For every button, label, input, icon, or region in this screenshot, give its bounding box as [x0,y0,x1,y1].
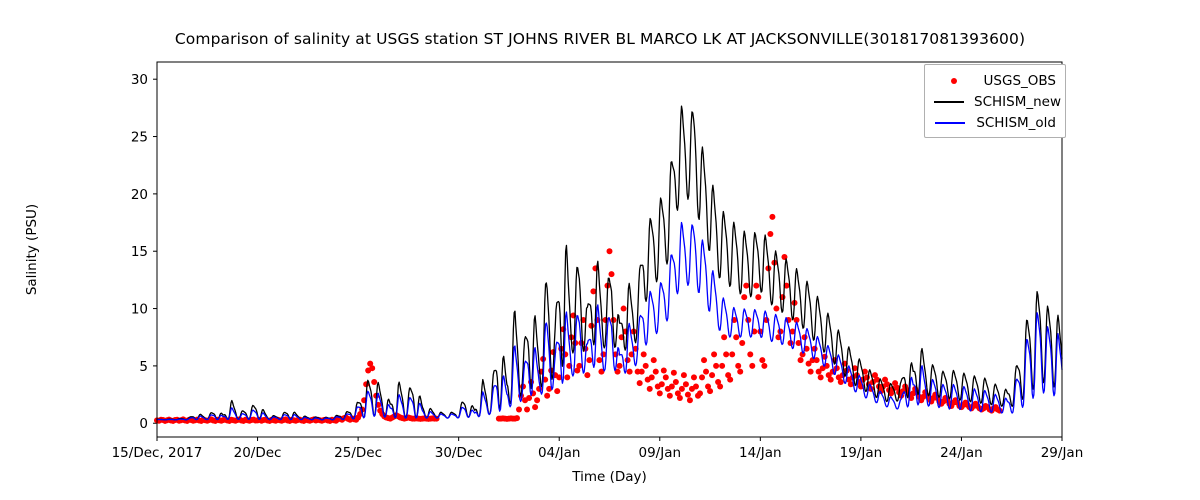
chart-legend: USGS_OBS SCHISM_new SCHISM_old [924,64,1066,138]
data-point [564,374,570,380]
x-tick-label: 15/Dec, 2017 [112,445,203,461]
data-point [669,384,675,390]
data-point [717,384,723,390]
data-point [721,334,727,340]
data-point [769,214,775,220]
y-axis-label: Salinity (PSU) [24,204,40,295]
data-point [707,388,713,394]
data-point [653,369,659,375]
data-point [683,381,689,387]
legend-marker-line-icon [934,101,964,103]
data-point [733,334,739,340]
data-point [667,393,673,399]
data-point [657,390,663,396]
data-point [679,386,685,392]
data-point [691,374,697,380]
data-point [677,395,683,401]
data-point [651,357,657,363]
x-tick-label: 14/Jan [739,445,782,461]
data-point [659,381,665,387]
data-point [647,386,653,392]
x-tick-label: 19/Jan [840,445,883,461]
data-point [621,306,627,312]
data-point [761,363,767,369]
y-tick-label: 10 [131,302,148,318]
data-point [609,271,615,277]
data-point [729,351,735,357]
x-tick-label: 24/Jan [940,445,983,461]
data-point [514,415,520,421]
data-point [812,346,818,352]
data-point [524,406,530,412]
x-tick-label: 20/Dec [234,445,282,461]
data-point [584,372,590,378]
data-point [554,388,560,394]
data-point [759,357,765,363]
x-tick-label: 25/Dec [334,445,382,461]
data-point [735,363,741,369]
data-point [755,294,761,300]
data-point [371,379,377,385]
data-point [818,374,824,380]
data-point [701,357,707,363]
data-point [369,365,375,371]
data-point [747,351,753,357]
y-tick-label: 25 [131,130,148,146]
x-tick-label: 30/Dec [435,445,483,461]
data-point [838,379,844,385]
data-point [711,351,717,357]
x-axis-label: Time (Day) [571,469,647,485]
y-axis-ticks: 051015202530 [131,72,157,432]
x-tick-label: 09/Jan [639,445,682,461]
data-point [743,283,749,289]
data-point [671,370,677,376]
data-point [643,363,649,369]
data-point [699,374,705,380]
data-point [639,369,645,375]
data-point [673,379,679,385]
legend-marker-line-icon [934,122,966,124]
y-tick-label: 30 [131,72,148,88]
y-tick-label: 5 [139,359,148,375]
data-point [586,357,592,363]
y-tick-label: 20 [131,187,148,203]
figure-canvas: Comparison of salinity at USGS station S… [0,0,1200,500]
data-point [532,404,538,410]
data-point [697,390,703,396]
data-point [723,351,729,357]
legend-item-usgs-obs: USGS_OBS [934,70,1056,91]
data-point [773,306,779,312]
data-point [607,248,613,254]
data-point [661,367,667,373]
x-axis-ticks: 15/Dec, 201720/Dec25/Dec30/Dec04/Jan09/J… [112,437,1084,461]
legend-item-schism-new: SCHISM_new [934,91,1056,112]
x-tick-label: 04/Jan [538,445,581,461]
data-point [713,363,719,369]
data-point [681,372,687,378]
data-point [625,357,631,363]
y-tick-label: 0 [139,416,148,432]
legend-label-usgs-obs: USGS_OBS [984,73,1056,89]
data-point [596,357,602,363]
data-point [767,231,773,237]
data-point [576,363,582,369]
data-point [798,357,804,363]
data-point [709,372,715,378]
data-point [544,393,550,399]
data-point [685,392,691,398]
data-point [802,334,808,340]
data-point [727,377,733,383]
data-point [627,369,633,375]
data-point [737,369,743,375]
data-point [687,397,693,403]
legend-label-schism-old: SCHISM_old [976,115,1056,131]
data-point [741,294,747,300]
data-point [749,363,755,369]
legend-marker-dot-icon [934,78,974,84]
data-point [534,397,540,403]
data-point [516,406,522,412]
data-point [649,374,655,380]
data-point [828,377,834,383]
data-point [663,374,669,380]
data-point [719,363,725,369]
legend-label-schism-new: SCHISM_new [974,94,1061,110]
data-point [753,283,759,289]
y-tick-label: 15 [131,244,148,260]
data-point [637,380,643,386]
legend-item-schism-old: SCHISM_old [934,112,1056,133]
data-point [703,369,709,375]
x-tick-label: 29/Jan [1041,445,1084,461]
data-point [617,363,623,369]
data-point [808,369,814,375]
data-point [739,340,745,346]
data-point [641,351,647,357]
data-point [693,384,699,390]
